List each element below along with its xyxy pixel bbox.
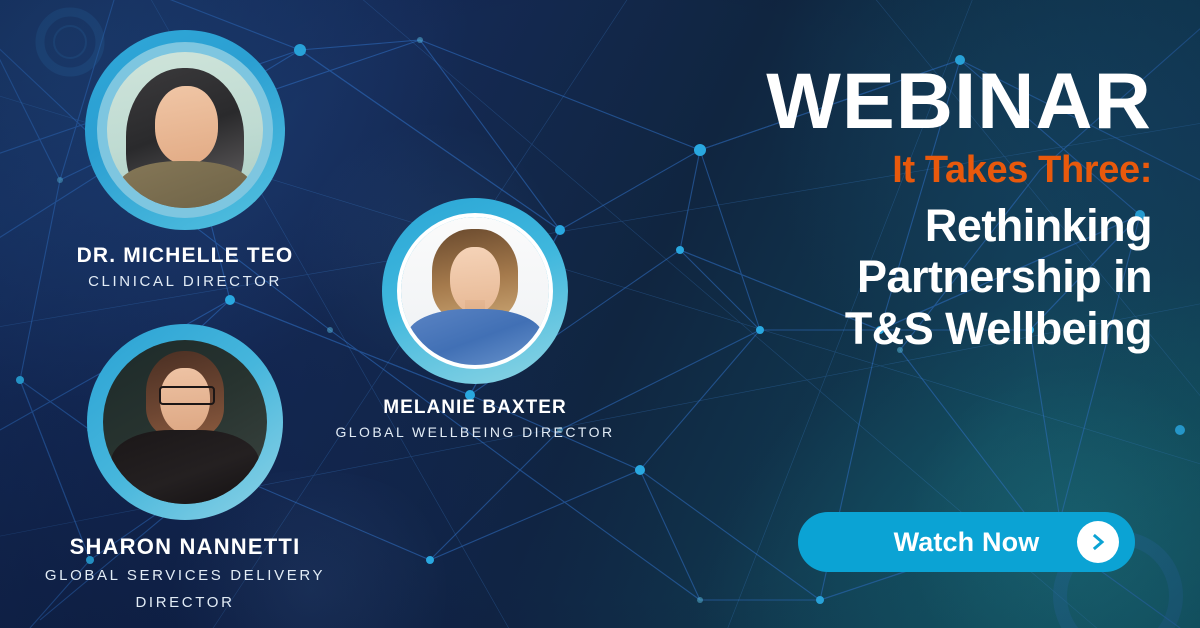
watch-now-label: Watch Now [894, 527, 1040, 558]
webinar-title-line-3: T&S Wellbeing [632, 303, 1152, 354]
webinar-title: Rethinking Partnership in T&S Wellbeing [632, 200, 1152, 354]
glasses-icon [159, 386, 215, 405]
speaker-3-photo-ring [87, 324, 283, 520]
headline-block: WEBINAR It Takes Three: Rethinking Partn… [632, 62, 1152, 354]
webinar-subtitle: It Takes Three: [632, 149, 1152, 192]
watch-now-button[interactable]: Watch Now [798, 512, 1135, 572]
speaker-3-avatar [103, 340, 267, 504]
speaker-card-3: SHARON NANNETTI GLOBAL SERVICES DELIVERY… [0, 324, 370, 614]
speaker-3-role-line-1: GLOBAL SERVICES DELIVERY [0, 565, 370, 587]
speaker-3-role-line-2: DIRECTOR [0, 592, 370, 614]
speaker-1-photo-ring [85, 30, 285, 230]
chevron-right-icon [1077, 521, 1119, 563]
webinar-kicker: WEBINAR [632, 62, 1152, 139]
speaker-2-avatar [397, 213, 553, 369]
webinar-promo-banner: DR. MICHELLE TEO CLINICAL DIRECTOR MELAN… [0, 0, 1200, 628]
webinar-title-line-1: Rethinking [632, 200, 1152, 251]
speaker-2-photo-ring [382, 198, 568, 384]
speaker-1-avatar [107, 52, 263, 208]
webinar-title-line-2: Partnership in [632, 251, 1152, 302]
speaker-3-name: SHARON NANNETTI [0, 534, 370, 560]
